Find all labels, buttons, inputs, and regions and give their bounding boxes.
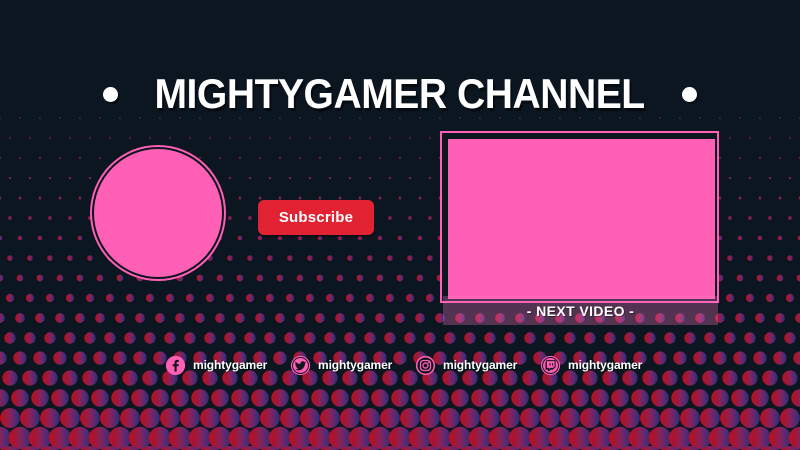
- twitter-icon[interactable]: [290, 355, 311, 376]
- social-link-instagram[interactable]: mightygamer: [415, 355, 540, 376]
- social-links: mightygamer mightygamer mightygamer: [165, 352, 665, 378]
- next-video-label-bar: - NEXT VIDEO -: [443, 296, 718, 325]
- next-video-thumbnail[interactable]: [448, 139, 715, 299]
- social-link-twitter[interactable]: mightygamer: [290, 355, 415, 376]
- social-handle-instagram: mightygamer: [443, 358, 517, 372]
- social-handle-facebook: mightygamer: [193, 358, 267, 372]
- social-link-twitch[interactable]: mightygamer: [540, 355, 665, 376]
- next-video-frame: [440, 131, 719, 303]
- facebook-icon[interactable]: [165, 355, 186, 376]
- subscribe-button[interactable]: Subscribe: [258, 200, 374, 235]
- twitch-icon[interactable]: [540, 355, 561, 376]
- instagram-icon[interactable]: [415, 355, 436, 376]
- next-video-card[interactable]: - NEXT VIDEO -: [440, 131, 719, 327]
- social-handle-twitch: mightygamer: [568, 358, 642, 372]
- avatar[interactable]: [92, 147, 224, 279]
- youtube-end-screen-banner: MIGHTYGAMER CHANNEL Subscribe - NEXT VID…: [0, 0, 800, 450]
- social-link-facebook[interactable]: mightygamer: [165, 355, 290, 376]
- social-handle-twitter: mightygamer: [318, 358, 392, 372]
- next-video-label: - NEXT VIDEO -: [527, 303, 635, 319]
